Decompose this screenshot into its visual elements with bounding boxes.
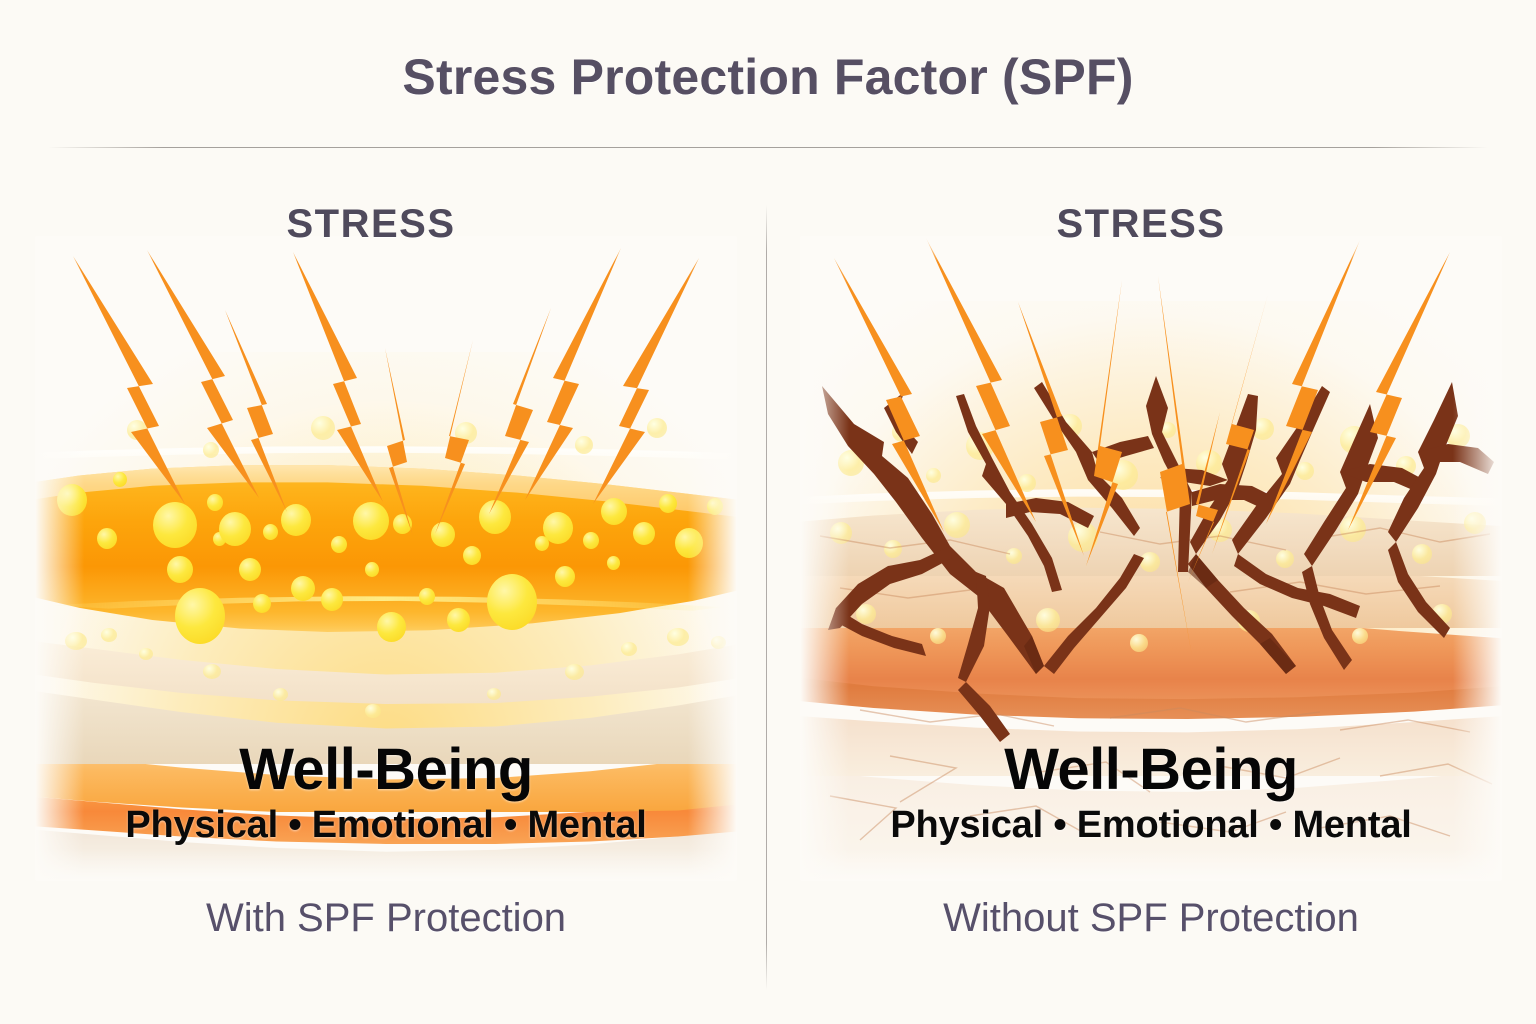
- bolt-icon: [435, 340, 473, 534]
- wellbeing-subtitle-left: Physical • Emotional • Mental: [35, 804, 737, 847]
- caption-without-spf: Without SPF Protection: [800, 896, 1502, 941]
- bolt-icon: [1158, 276, 1192, 656]
- wellbeing-title-left: Well-Being: [35, 740, 737, 800]
- bolt-icon: [147, 250, 259, 498]
- wellbeing-block-left: Well-Being Physical • Emotional • Mental: [35, 740, 737, 847]
- caption-with-spf: With SPF Protection: [35, 896, 737, 941]
- infographic-page: Stress Protection Factor (SPF) STRESS: [0, 0, 1536, 1024]
- bolt-icon: [1266, 240, 1360, 524]
- bolt-icon: [1018, 302, 1084, 556]
- panel-with-spf: STRESS: [35, 196, 737, 886]
- bolt-icon: [525, 248, 621, 500]
- panel-without-spf: STRESS: [800, 196, 1502, 886]
- bolt-icon: [1188, 412, 1220, 582]
- bolt-icon: [385, 348, 413, 536]
- bolt-icon: [834, 258, 944, 532]
- illustration-cracked-skin: Well-Being Physical • Emotional • Mental: [800, 236, 1502, 881]
- stress-label-right: STRESS: [790, 202, 1492, 247]
- bolt-icon: [489, 308, 551, 514]
- bolt-icon: [293, 252, 383, 502]
- wellbeing-subtitle-right: Physical • Emotional • Mental: [800, 804, 1502, 847]
- bolt-icon: [73, 256, 185, 504]
- bolt-icon: [593, 258, 699, 504]
- bolt-icon: [1086, 280, 1122, 566]
- page-title: Stress Protection Factor (SPF): [0, 48, 1536, 106]
- wellbeing-title-right: Well-Being: [800, 740, 1502, 800]
- stress-label-left: STRESS: [20, 202, 722, 247]
- bolt-icon: [1348, 252, 1450, 530]
- illustration-protected-skin: Well-Being Physical • Emotional • Mental: [35, 236, 737, 881]
- bolt-icon: [926, 238, 1036, 522]
- bolt-icon: [225, 310, 287, 512]
- bolt-icon: [1212, 294, 1268, 554]
- panel-vertical-divider: [766, 205, 767, 990]
- title-divider-rule: [48, 147, 1488, 148]
- wellbeing-block-right: Well-Being Physical • Emotional • Mental: [800, 740, 1502, 847]
